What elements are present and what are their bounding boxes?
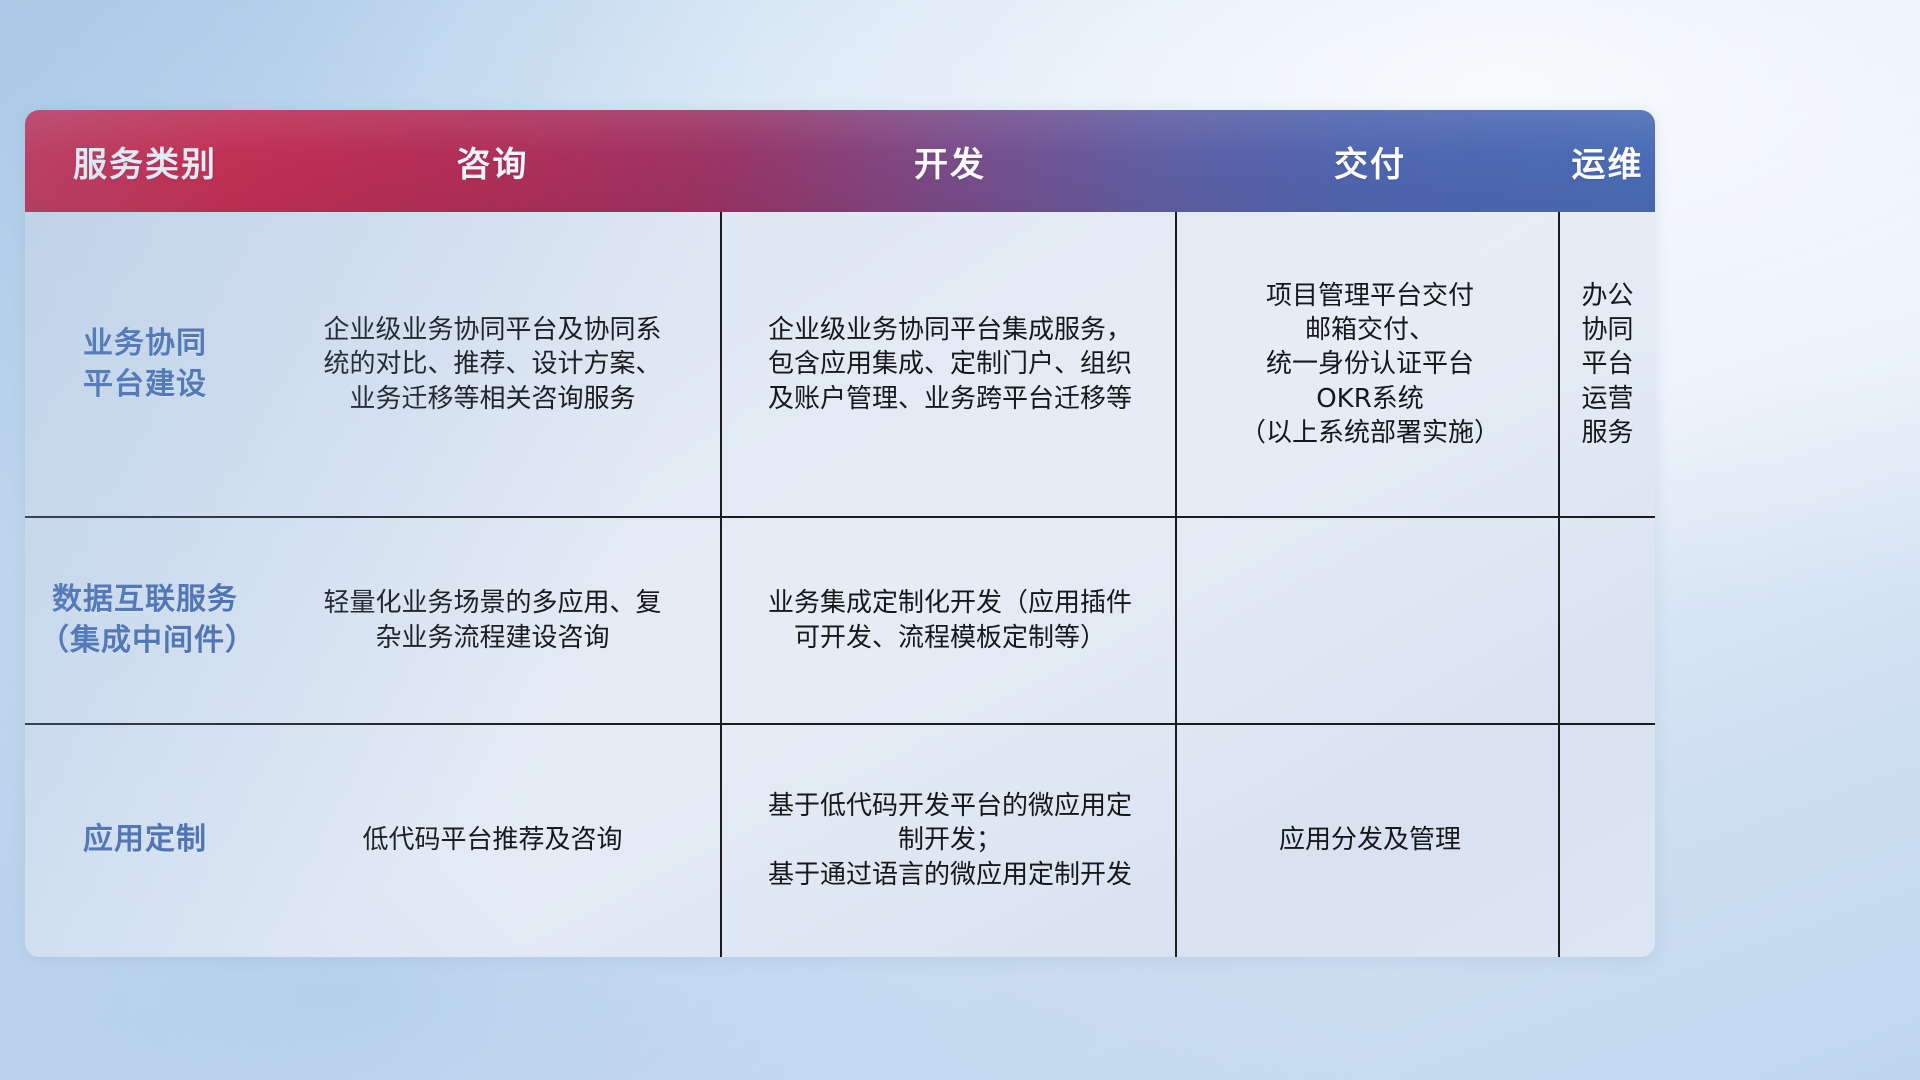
cell-delivery-2	[1180, 517, 1560, 724]
table-row: 应用定制 低代码平台推荐及咨询 基于低代码开发平台的微应用定 制开发； 基于通过…	[25, 724, 1655, 957]
column-header-development: 开发	[720, 137, 1180, 186]
cell-category-3: 应用定制	[25, 724, 265, 957]
cell-consulting-1: 企业级业务协同平台及协同系 统的对比、推荐、设计方案、 业务迁移等相关咨询服务	[265, 212, 720, 517]
cell-delivery-3: 应用分发及管理	[1180, 724, 1560, 957]
column-header-category: 服务类别	[25, 137, 265, 186]
table-body: 业务协同 平台建设 企业级业务协同平台及协同系 统的对比、推荐、设计方案、 业务…	[25, 212, 1655, 957]
table-row: 数据互联服务 （集成中间件） 轻量化业务场景的多应用、复 杂业务流程建设咨询 业…	[25, 517, 1655, 724]
row-divider-1	[25, 516, 1655, 518]
table-row: 业务协同 平台建设 企业级业务协同平台及协同系 统的对比、推荐、设计方案、 业务…	[25, 212, 1655, 517]
table-header-row: 服务类别 咨询 开发 交付 运维	[25, 110, 1655, 212]
cell-consulting-3: 低代码平台推荐及咨询	[265, 724, 720, 957]
cell-development-3: 基于低代码开发平台的微应用定 制开发； 基于通过语言的微应用定制开发	[720, 724, 1180, 957]
cell-delivery-1: 项目管理平台交付 邮箱交付、 统一身份认证平台 OKR系统 （以上系统部署实施）	[1180, 212, 1560, 517]
column-header-consulting: 咨询	[265, 137, 720, 186]
column-header-operations: 运维	[1560, 137, 1655, 186]
cell-operations-1: 办公协同平台运营服务	[1560, 212, 1655, 517]
row-divider-2	[25, 723, 1655, 725]
cell-operations-3	[1560, 724, 1655, 957]
cell-category-2: 数据互联服务 （集成中间件）	[25, 517, 265, 724]
cell-consulting-2: 轻量化业务场景的多应用、复 杂业务流程建设咨询	[265, 517, 720, 724]
column-divider-3	[1558, 212, 1560, 957]
cell-operations-2	[1560, 517, 1655, 724]
column-divider-2	[1175, 212, 1177, 957]
service-matrix-table: 服务类别 咨询 开发 交付 运维 业务协同 平台建设 企业级业务协同平台及协同系…	[25, 110, 1655, 957]
column-header-delivery: 交付	[1180, 137, 1560, 186]
cell-development-2: 业务集成定制化开发（应用插件 可开发、流程模板定制等）	[720, 517, 1180, 724]
cell-category-1: 业务协同 平台建设	[25, 212, 265, 517]
cell-development-1: 企业级业务协同平台集成服务， 包含应用集成、定制门户、组织 及账户管理、业务跨平…	[720, 212, 1180, 517]
table-header-band: 服务类别 咨询 开发 交付 运维	[25, 110, 1655, 212]
column-divider-1	[720, 212, 722, 957]
slide-canvas: 服务类别 咨询 开发 交付 运维 业务协同 平台建设 企业级业务协同平台及协同系…	[0, 0, 1920, 1080]
